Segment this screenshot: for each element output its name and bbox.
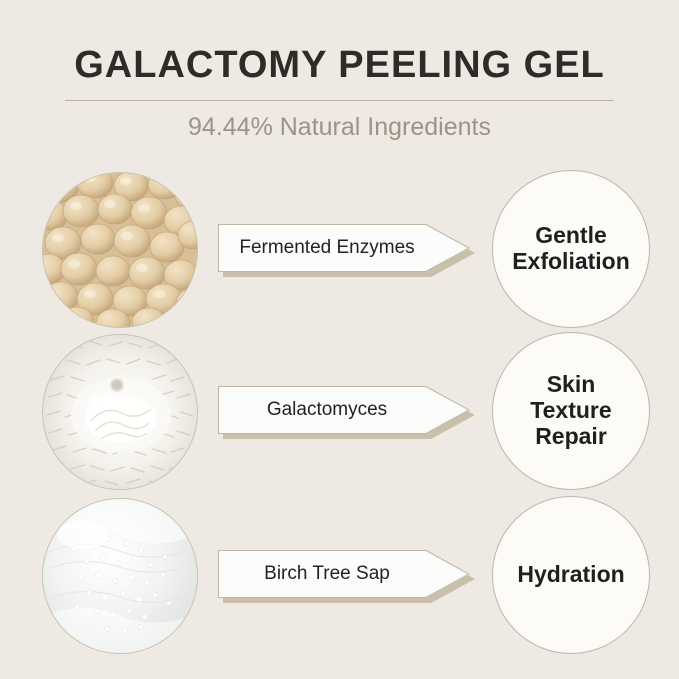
benefit-badge: Hydration	[492, 496, 650, 654]
benefit-label: Hydration	[509, 562, 632, 588]
title-divider	[65, 100, 614, 101]
header: GALACTOMY PEELING GEL 94.44% Natural Ing…	[0, 0, 679, 160]
gel-texture-photo	[42, 498, 198, 654]
subtitle: 94.44% Natural Ingredients	[0, 113, 679, 142]
ingredient-banner: Galactomyces	[218, 386, 470, 444]
ingredient-label: Galactomyces	[218, 386, 436, 434]
benefit-label: Gentle Exfoliation	[504, 223, 638, 275]
infographic-page: GALACTOMY PEELING GEL 94.44% Natural Ing…	[0, 0, 679, 679]
rice-water-photo	[42, 334, 198, 490]
ingredient-row: Fermented Enzymes Gentle Exfoliation	[0, 170, 679, 335]
ingredient-banner: Birch Tree Sap	[218, 550, 470, 608]
ingredient-banner: Fermented Enzymes	[218, 224, 470, 282]
soybeans-photo	[42, 172, 198, 328]
ingredient-label: Birch Tree Sap	[218, 550, 436, 598]
ingredient-label: Fermented Enzymes	[218, 224, 436, 272]
benefit-badge: Gentle Exfoliation	[492, 170, 650, 328]
benefit-badge: Skin Texture Repair	[492, 332, 650, 490]
benefit-label: Skin Texture Repair	[522, 372, 619, 449]
ingredient-row: Birch Tree Sap Hydration	[0, 496, 679, 661]
ingredient-row: Galactomyces Skin Texture Repair	[0, 332, 679, 497]
page-title: GALACTOMY PEELING GEL	[0, 44, 679, 87]
